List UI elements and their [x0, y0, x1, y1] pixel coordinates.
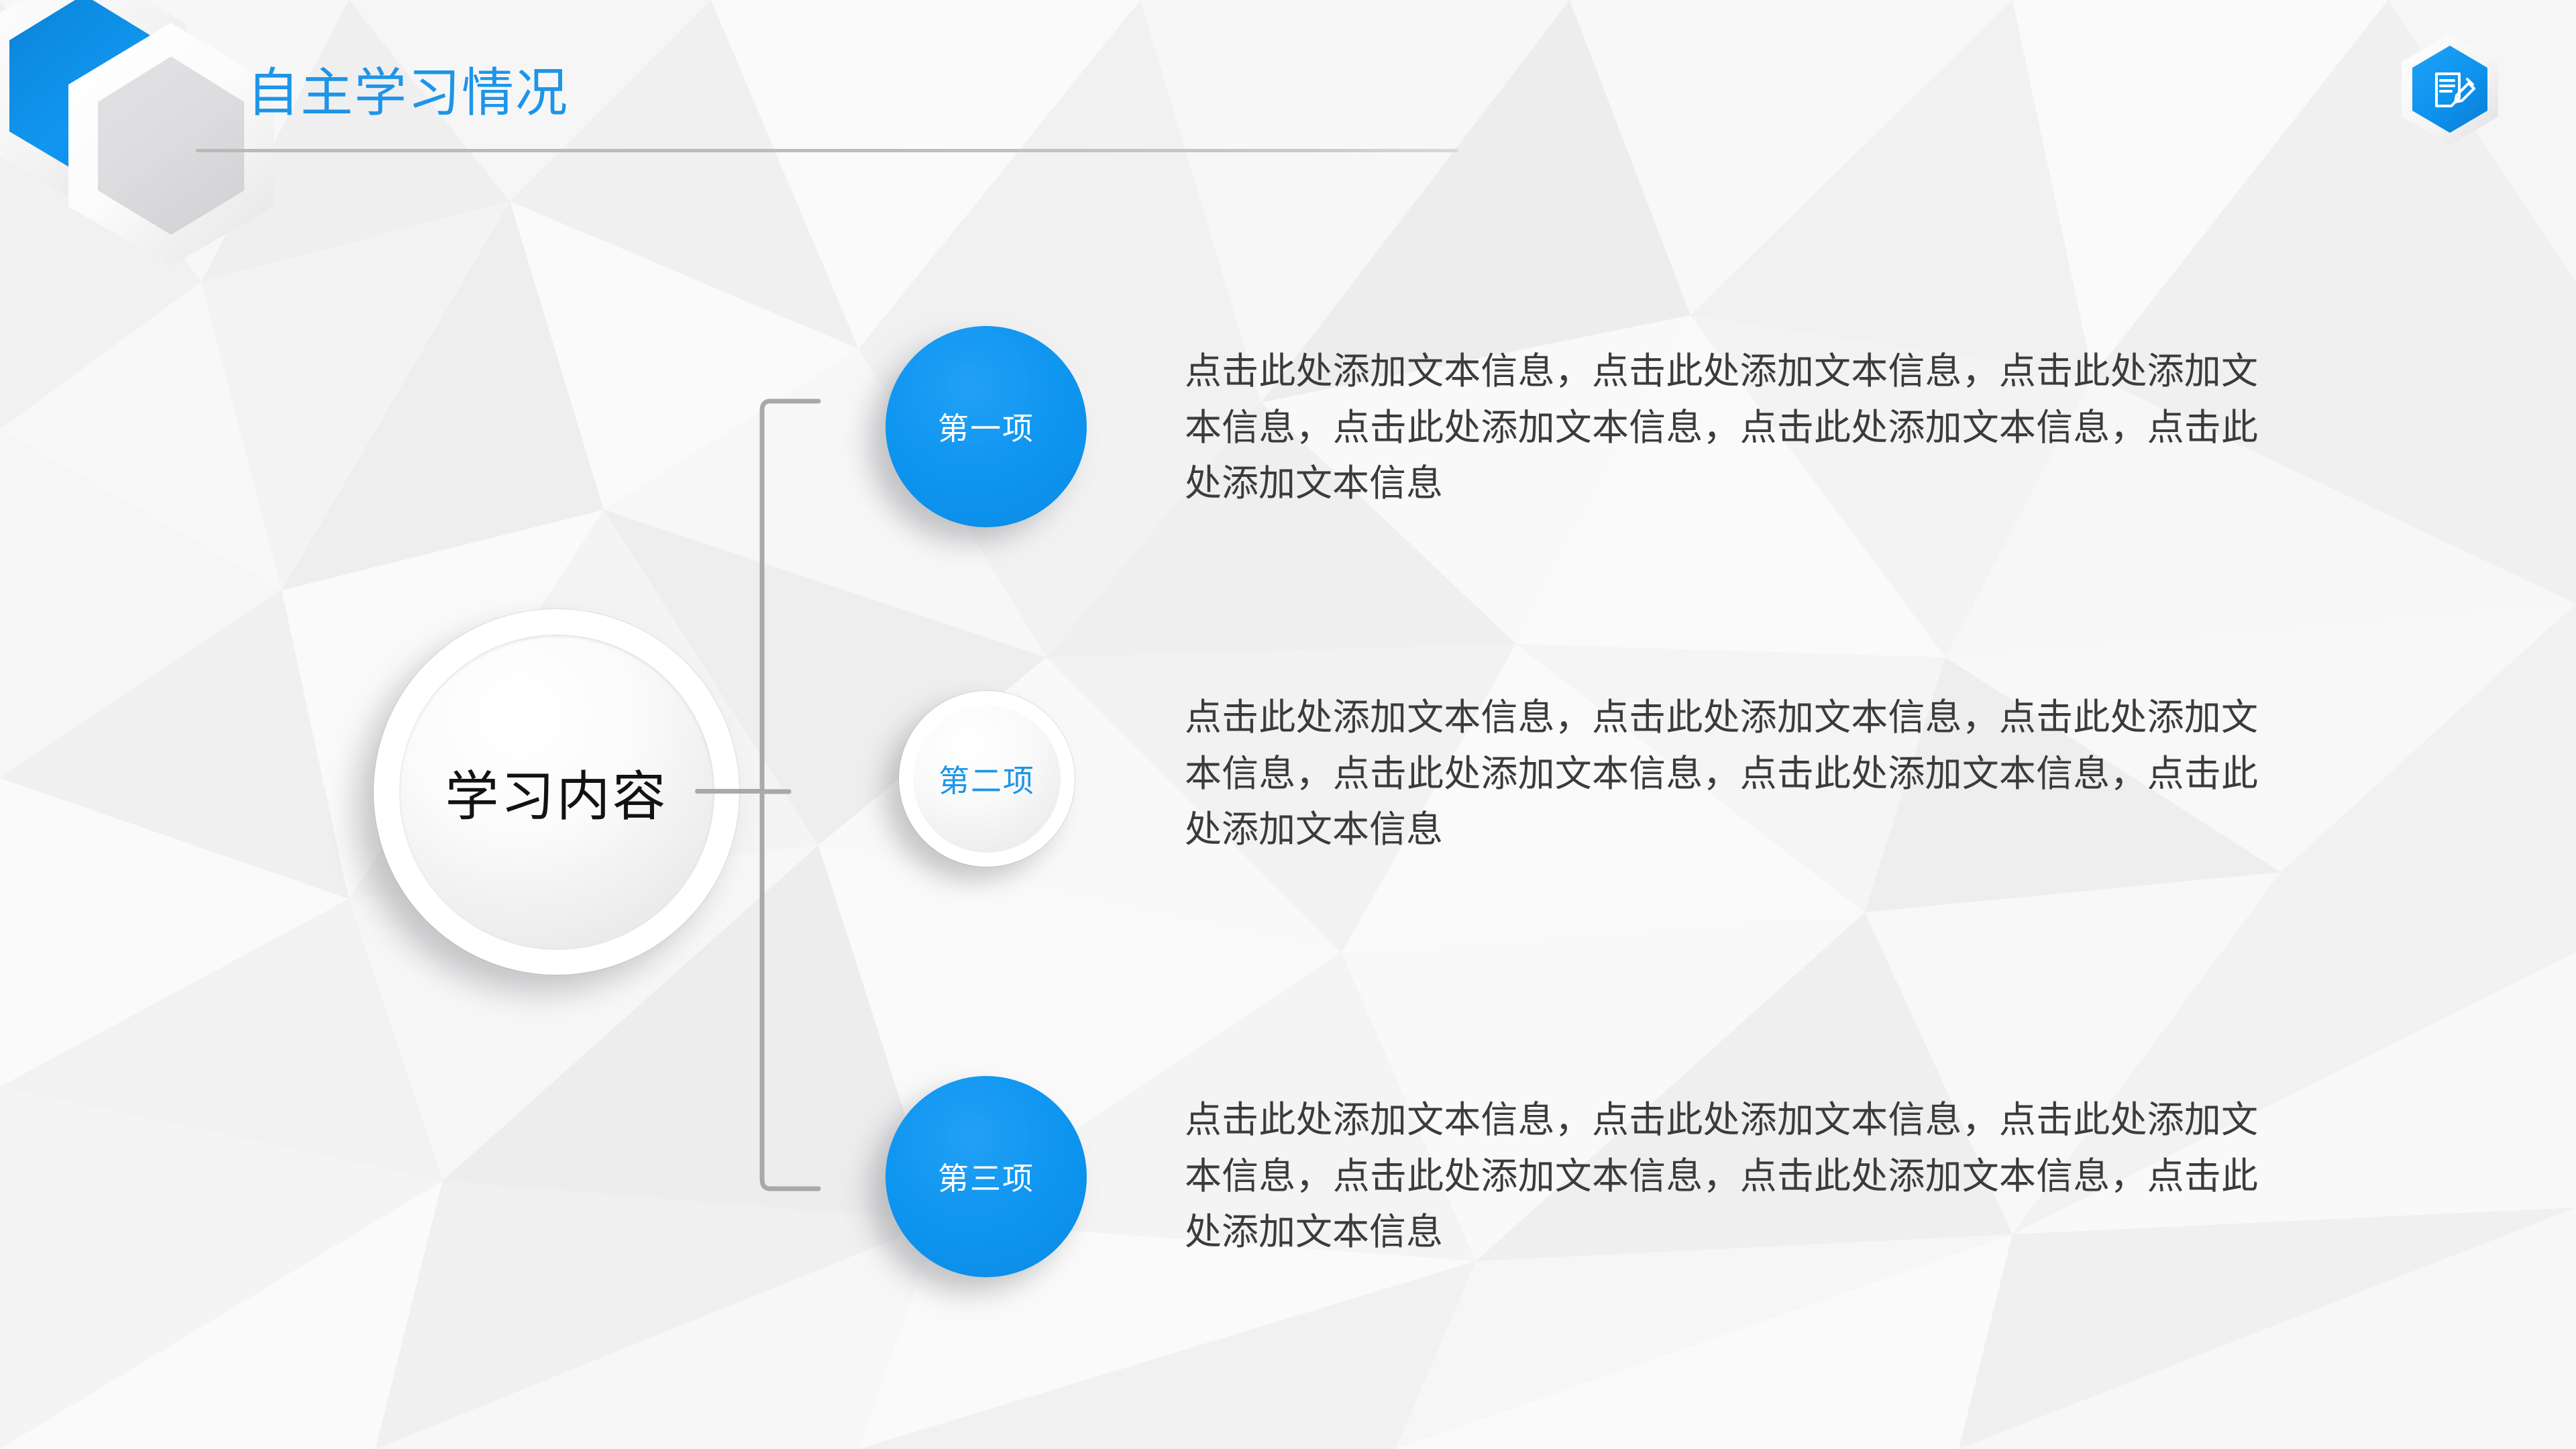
hub-label: 学习内容 [445, 753, 668, 831]
item-node-1[interactable]: 第一项 [885, 326, 1087, 527]
item-node-3-label: 第三项 [938, 1155, 1034, 1199]
slide-canvas: 自主学习情况 [0, 0, 2576, 1449]
hub-circle-face: 学习内容 [399, 635, 714, 950]
learning-content-diagram: 学习内容 第一项 第二项 第三项 点击此处添加文本信息，点击此处添加文本信息，点… [0, 0, 2576, 1449]
item-node-2[interactable]: 第二项 [899, 691, 1075, 867]
item-node-1-label: 第一项 [938, 405, 1034, 449]
item-body-2: 点击此处添加文本信息，点击此处添加文本信息，点击此处添加文本信息，点击此处添加文… [1185, 690, 2258, 858]
item-node-2-face: 第二项 [913, 705, 1061, 853]
item-body-3: 点击此处添加文本信息，点击此处添加文本信息，点击此处添加文本信息，点击此处添加文… [1185, 1092, 2258, 1260]
item-body-1: 点击此处添加文本信息，点击此处添加文本信息，点击此处添加文本信息，点击此处添加文… [1185, 343, 2258, 512]
bracket-connector-icon [718, 396, 852, 1194]
item-node-2-label: 第二项 [938, 757, 1035, 801]
item-node-3[interactable]: 第三项 [885, 1076, 1087, 1277]
hub-circle[interactable]: 学习内容 [374, 609, 739, 975]
